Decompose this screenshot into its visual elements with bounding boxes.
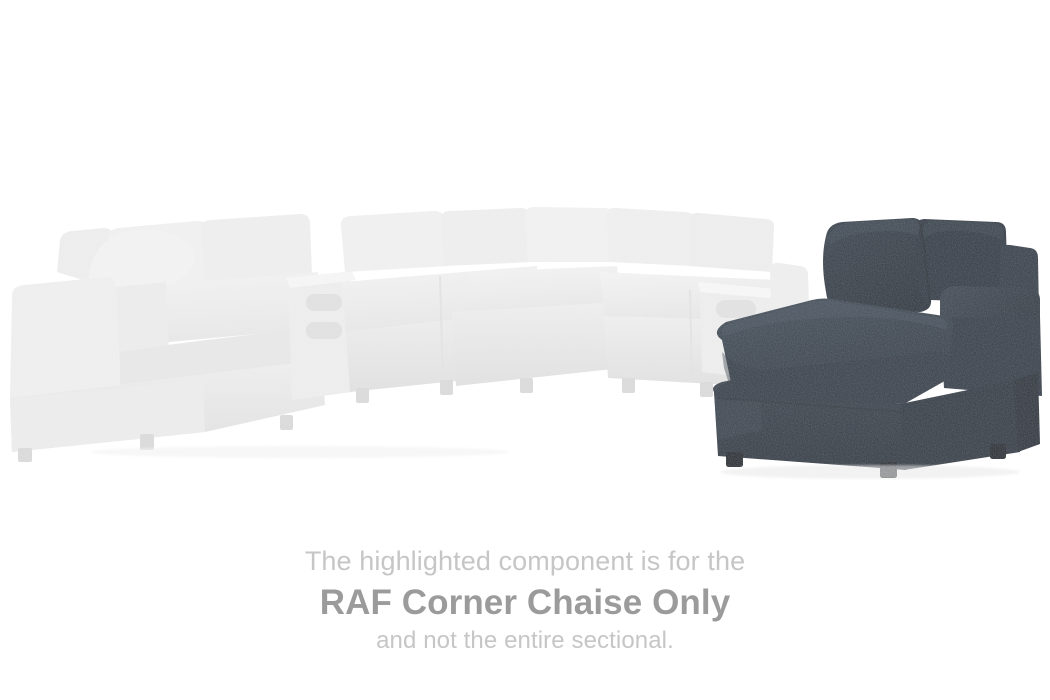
ghost-foot [140,434,154,450]
chaise-arm-right-top [940,286,1040,320]
ghost-foot [700,382,713,397]
ghost-foot [520,378,533,393]
ghost-module-laf-loveseat [10,214,325,462]
ghost-foot [280,415,293,430]
ghost-base [452,302,622,386]
product-image-canvas: The highlighted component is for the RAF… [0,0,1050,700]
ghost-back-cushion [607,208,694,266]
ghost-back-cushion [201,214,312,281]
chaise-foot [726,452,743,467]
caption-line-intro: The highlighted component is for the [0,548,1050,575]
ghost-foot [440,380,453,395]
chaise-foot [990,444,1006,459]
ghost-cup-holder [306,322,342,339]
caption-line-component-name: RAF Corner Chaise Only [0,585,1050,620]
ghost-sectional-group [10,207,810,462]
caption-block: The highlighted component is for the RAF… [0,548,1050,653]
ground-shadow [720,465,1020,479]
caption-line-disclaimer: and not the entire sectional. [0,629,1050,653]
ghost-back-cushion [441,208,533,266]
ghost-foot [356,388,369,403]
ghost-foot [18,448,32,462]
ghost-back-cushion [689,213,774,272]
ghost-back-cushion [525,207,614,262]
ground-shadow [90,446,510,458]
ghost-cup-holder [716,300,756,318]
ghost-back-cushion [341,211,448,272]
chaise-base-right-shade [1014,372,1040,452]
ghost-cup-holder [306,294,342,311]
ghost-foot [622,378,635,393]
